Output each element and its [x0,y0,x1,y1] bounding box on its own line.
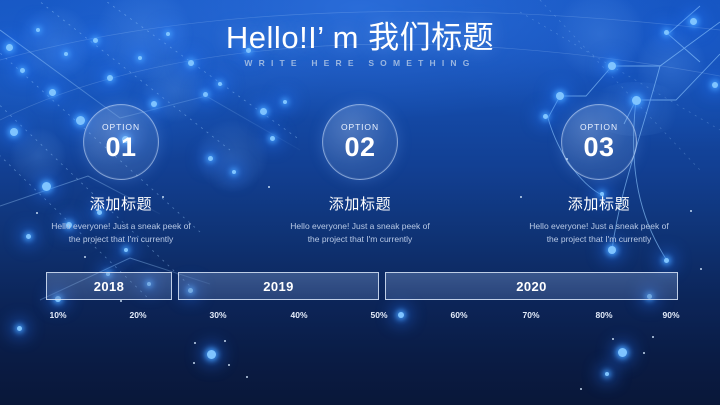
option-item-2[interactable]: OPTION 02 添加标题 Hello everyone! Just a sn… [273,104,448,246]
glow-node [17,326,22,331]
option-heading: 添加标题 [329,193,391,214]
timeline-segment-2018[interactable]: 2018 [46,272,172,300]
glow-node [107,75,113,81]
option-badge-01[interactable]: OPTION 01 [83,104,159,180]
percent-tick: 30% [209,310,226,320]
option-item-3[interactable]: OPTION 03 添加标题 Hello everyone! Just a sn… [512,104,687,246]
option-body-text: Hello everyone! Just a sneak peek of the… [285,220,435,246]
presentation-slide: Hello!I’ m 我们标题 WRITE HERE SOMETHING OPT… [0,0,720,405]
glow-node [664,258,669,263]
glow-node [218,82,222,86]
option-heading: 添加标题 [90,193,152,214]
percent-tick: 20% [129,310,146,320]
particle-spark [612,338,614,340]
timeline-bar: 2018 2019 2020 [46,272,678,300]
particle-spark [246,376,248,378]
percent-tick: 10% [49,310,66,320]
timeline-segment-2019[interactable]: 2019 [178,272,379,300]
particle-spark [84,256,86,258]
glow-node [618,348,627,357]
particle-spark [228,364,230,366]
glow-node [124,248,128,252]
particle-spark [643,352,645,354]
option-label: OPTION [102,123,140,132]
particle-spark [652,336,654,338]
glow-node [207,350,216,359]
glow-node [20,68,25,73]
option-body-text: Hello everyone! Just a sneak peek of the… [524,220,674,246]
percent-tick: 90% [662,310,679,320]
option-label: OPTION [580,123,618,132]
option-badge-02[interactable]: OPTION 02 [322,104,398,180]
percent-tick: 40% [290,310,307,320]
glow-node [203,92,208,97]
timeline-segment-2020[interactable]: 2020 [385,272,678,300]
option-item-1[interactable]: OPTION 01 添加标题 Hello everyone! Just a sn… [34,104,209,246]
particle-spark [194,342,196,344]
options-row: OPTION 01 添加标题 Hello everyone! Just a sn… [0,104,720,246]
option-badge-03[interactable]: OPTION 03 [561,104,637,180]
page-title: Hello!I’ m 我们标题 [0,12,720,57]
particle-spark [193,362,195,364]
percent-tick: 80% [595,310,612,320]
glow-node [605,372,609,376]
percent-scale: 10% 20% 30% 40% 50% 60% 70% 80% 90% [46,310,672,324]
particle-spark [120,300,122,302]
percent-tick: 60% [450,310,467,320]
option-number: 02 [344,133,375,161]
percent-tick: 50% [370,310,387,320]
percent-tick: 70% [522,310,539,320]
glow-node [556,92,564,100]
option-label: OPTION [341,123,379,132]
particle-spark [224,340,226,342]
glow-node [49,89,56,96]
page-subtitle: WRITE HERE SOMETHING [0,58,720,68]
option-number: 01 [105,133,136,161]
glow-node [712,82,718,88]
particle-spark [700,268,702,270]
option-number: 03 [583,133,614,161]
particle-spark [580,388,582,390]
option-body-text: Hello everyone! Just a sneak peek of the… [46,220,196,246]
glow-node [608,246,616,254]
option-heading: 添加标题 [568,193,630,214]
